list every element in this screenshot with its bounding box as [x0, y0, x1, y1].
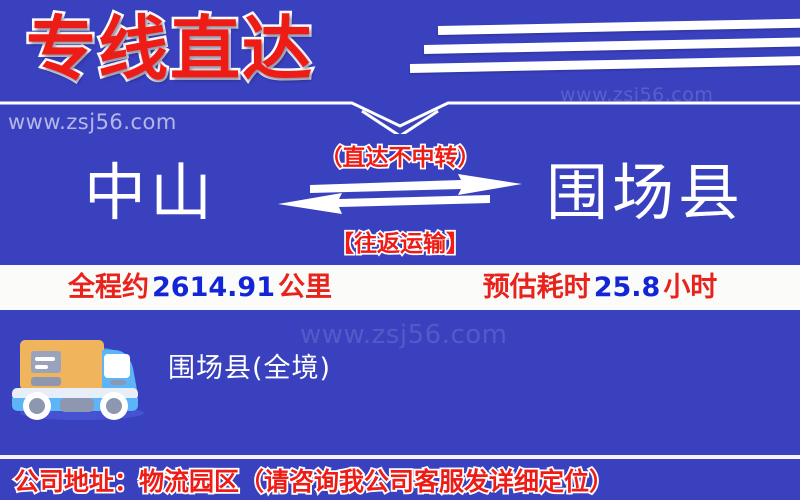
header-section: 专线直达 www.zsj56.com	[0, 0, 800, 104]
route-section: 中山 围场县 （直达不中转） 【往返运输】 www.zsj56.com	[0, 132, 800, 266]
distance-value: 2614.91	[149, 272, 278, 303]
route-middle: （直达不中转） 【往返运输】	[270, 132, 530, 266]
logistics-route-banner: 专线直达 www.zsj56.com www.zsj56.com 中山 围场县 …	[0, 0, 800, 500]
duration-label-prefix: 预估耗时	[483, 272, 591, 303]
metrics-bar: 全程约2614.91公里 预估耗时25.8小时	[0, 265, 800, 310]
roundtrip-badge: 【往返运输】	[270, 224, 530, 258]
coverage-section: 围场县(全境) www.zsj56.com	[0, 310, 800, 455]
company-address-text: 公司地址：物流园区（请咨询我公司客服发详细定位）	[14, 462, 614, 498]
distance-label-suffix: 公里	[278, 272, 332, 303]
bidirectional-arrow-icon	[278, 174, 522, 220]
duration-metric: 预估耗时25.8小时	[400, 265, 800, 310]
delivery-truck-icon	[4, 318, 154, 423]
distance-metric: 全程约2614.91公里	[0, 265, 400, 310]
header-stripe-2	[424, 37, 800, 54]
destination-city: 围场县	[505, 150, 785, 236]
coverage-label: 围场县(全境)	[168, 346, 331, 385]
origin-city: 中山	[10, 150, 290, 236]
direct-badge: （直达不中转）	[270, 138, 530, 172]
header-stripe-3	[410, 56, 800, 73]
duration-label-suffix: 小时	[663, 272, 717, 303]
page-title: 专线直达	[26, 4, 314, 94]
duration-value: 25.8	[591, 272, 664, 303]
header-stripe-1	[438, 18, 800, 35]
distance-label-prefix: 全程约	[68, 272, 149, 303]
watermark-top-left: www.zsj56.com	[8, 110, 177, 134]
